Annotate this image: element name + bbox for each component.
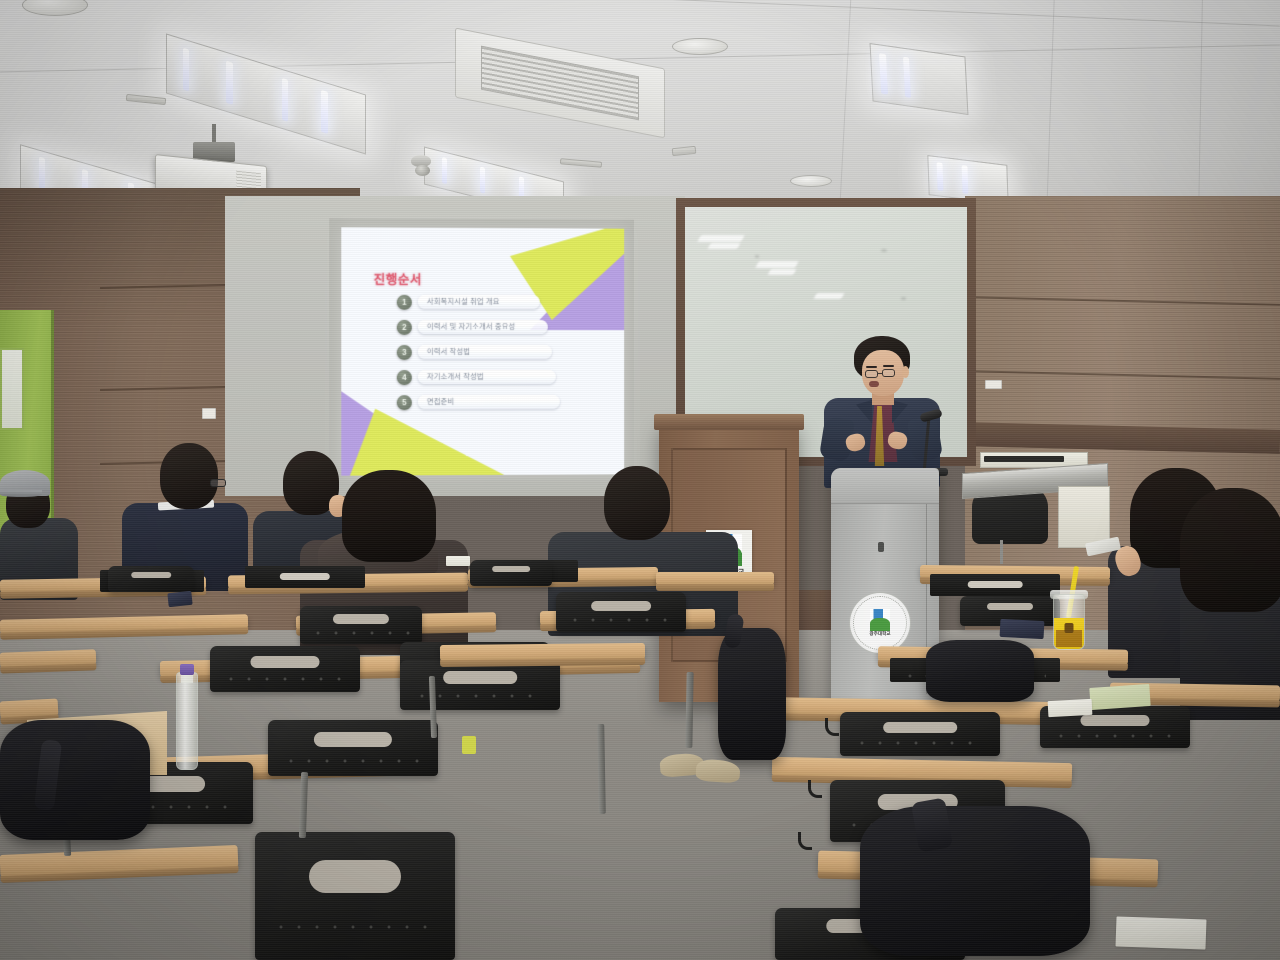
backpack[interactable] (0, 720, 150, 840)
chair-caster (180, 838, 189, 847)
ceiling-panel-line (1198, 0, 1203, 215)
desk-front-panel (930, 574, 1060, 596)
light-troffer (870, 43, 969, 115)
light-switch-plate[interactable] (985, 380, 1002, 389)
phone[interactable] (1000, 619, 1045, 639)
presenter-glasses-right (882, 369, 895, 377)
desk (0, 649, 96, 667)
handout-paper[interactable] (446, 556, 470, 566)
water-bottle-cap[interactable] (180, 664, 194, 675)
ceiling-vent-round (672, 38, 728, 55)
chair[interactable] (400, 660, 560, 710)
chair[interactable] (470, 560, 552, 586)
shelf-side-panel (1058, 486, 1110, 548)
presenter-face (862, 350, 904, 396)
handout-paper[interactable] (1048, 699, 1093, 717)
person-hair (1180, 488, 1280, 612)
chair[interactable] (210, 646, 360, 692)
chair[interactable] (108, 566, 194, 592)
wall-seam (965, 296, 1280, 306)
chair[interactable] (300, 606, 422, 644)
chair[interactable] (268, 720, 438, 776)
av-cabinet-top (831, 468, 939, 504)
slide-list-item: 5 면접준비 (397, 394, 560, 410)
desk (656, 572, 774, 585)
slide-item-number: 2 (397, 319, 412, 334)
slide-item-label: 자기소개서 작성법 (418, 370, 556, 384)
handout-paper[interactable] (1116, 916, 1207, 949)
slide-item-number: 4 (397, 370, 412, 385)
backpack[interactable] (926, 640, 1034, 702)
ceiling-vent-slot (560, 158, 602, 168)
desk (440, 643, 645, 661)
presenter-ear (902, 366, 909, 378)
projected-slide: 진행순서 1 사회복지시설 취업 개요 2 이력서 및 자기소개서 중요성 3 … (341, 227, 624, 475)
chair[interactable] (255, 832, 455, 960)
chair[interactable] (840, 712, 1000, 756)
av-cabinet-lock[interactable] (878, 542, 884, 552)
ceiling-vent-round (22, 0, 88, 16)
person-hair (342, 470, 436, 562)
phone[interactable] (167, 591, 192, 607)
slide-item-label: 면접준비 (418, 395, 560, 409)
ceiling-vent-slot (672, 146, 697, 156)
wall-seam (965, 370, 1280, 380)
person-glasses (210, 479, 226, 487)
lecture-hall-photo: 진행순서 1 사회복지시설 취업 개요 2 이력서 및 자기소개서 중요성 3 … (0, 0, 1280, 960)
handout-paper[interactable] (1089, 684, 1150, 710)
person-head (604, 466, 670, 540)
emblem-mark (870, 609, 890, 631)
person-head (160, 443, 218, 509)
slide-item-label: 이력서 및 자기소개서 중요성 (418, 320, 548, 334)
slide-item-number: 1 (397, 294, 412, 309)
podium-top-surface (654, 414, 804, 430)
light-troffer (166, 33, 366, 154)
slide-item-label: 이력서 작성법 (418, 345, 552, 359)
ceiling-vent-slot (126, 94, 167, 105)
ceiling-seam (660, 0, 1279, 27)
shelf-chair-leg (1000, 540, 1003, 564)
slide-list-item: 3 이력서 작성법 (397, 344, 552, 360)
ceiling-speaker (415, 165, 430, 176)
light-switch-plate[interactable] (202, 408, 216, 419)
slide-list-item: 1 사회복지시설 취업 개요 (397, 294, 540, 310)
slide-list-item: 2 이력서 및 자기소개서 중요성 (397, 319, 548, 335)
presenter-mouth (869, 381, 879, 387)
audience-person (0, 466, 78, 596)
ceiling-vent-round (790, 175, 832, 187)
person-cap-brim (0, 490, 42, 497)
ceiling-panel-line (840, 0, 851, 200)
door-window-pane (0, 348, 24, 430)
water-bottle[interactable] (176, 672, 198, 770)
shelf-device-bar (984, 456, 1064, 462)
slide-list-item: 4 자기소개서 작성법 (397, 369, 556, 385)
air-conditioner-vent (455, 28, 665, 139)
chair[interactable] (556, 592, 686, 632)
slide-title: 진행순서 (374, 269, 422, 288)
desk-front-panel (245, 566, 365, 588)
iced-drink-cup[interactable] (1053, 594, 1085, 650)
desk (0, 698, 58, 718)
university-emblem-sticker: 광주대학교 (849, 592, 911, 654)
water-bottle-neck (181, 674, 193, 683)
presenter-glasses-left (865, 370, 878, 378)
slide-item-label: 사회복지시설 취업 개요 (418, 295, 540, 309)
backpack[interactable] (718, 628, 786, 760)
desk-leg (685, 672, 693, 748)
floor-marker (462, 736, 476, 754)
ceiling-panel-line (1046, 0, 1054, 210)
slide-item-number: 3 (397, 344, 412, 359)
slide-item-number: 5 (397, 395, 412, 410)
backpack[interactable] (860, 806, 1090, 956)
chair-caster (60, 852, 69, 861)
audience-person (122, 443, 248, 583)
